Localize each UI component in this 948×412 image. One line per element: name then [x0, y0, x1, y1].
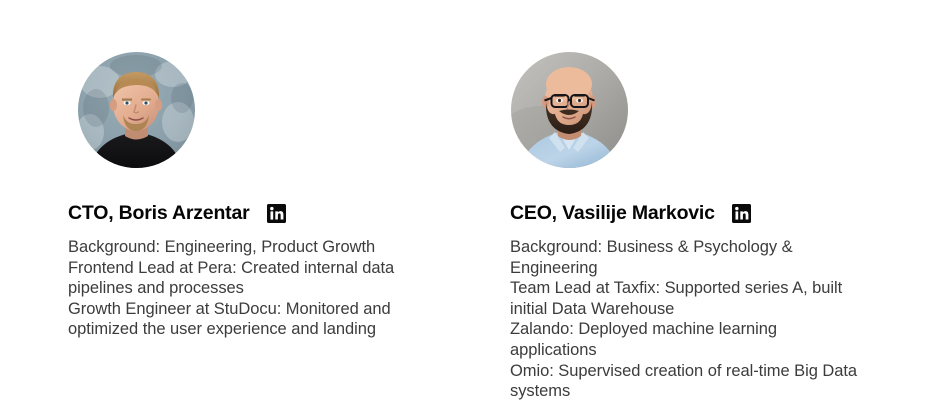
person-bio: Background: Engineering, Product Growth …	[68, 237, 413, 340]
person-name: CEO, Vasilije Markovic	[510, 202, 715, 224]
bio-line: Background: Engineering, Product Growth	[68, 237, 413, 258]
person-header: CEO, Vasilije Markovic	[510, 202, 930, 224]
linkedin-link[interactable]	[267, 204, 286, 223]
avatar-photo-vasilije	[511, 52, 628, 168]
linkedin-icon[interactable]	[732, 204, 751, 223]
bio-line: Frontend Lead at Pera: Created internal …	[68, 258, 413, 299]
avatar-photo-boris	[78, 52, 195, 168]
bio-line: Team Lead at Taxfix: Supported series A,…	[510, 278, 862, 319]
linkedin-link[interactable]	[732, 204, 751, 223]
team-profiles-section: CTO, Boris Arzentar Background: Engineer…	[0, 0, 948, 412]
profile-card-ceo: CEO, Vasilije Markovic Background: Busin…	[510, 0, 930, 402]
bio-line: Growth Engineer at StuDocu: Monitored an…	[68, 299, 413, 340]
person-name: CTO, Boris Arzentar	[68, 202, 250, 224]
linkedin-icon[interactable]	[267, 204, 286, 223]
avatar	[78, 52, 195, 168]
bio-line: Omio: Supervised creation of real-time B…	[510, 361, 862, 402]
avatar	[511, 52, 628, 168]
person-header: CTO, Boris Arzentar	[68, 202, 488, 224]
person-bio: Background: Business & Psychology & Engi…	[510, 237, 862, 402]
bio-line: Background: Business & Psychology & Engi…	[510, 237, 862, 278]
bio-line: Zalando: Deployed machine learning appli…	[510, 319, 862, 360]
profile-card-cto: CTO, Boris Arzentar Background: Engineer…	[68, 0, 488, 340]
